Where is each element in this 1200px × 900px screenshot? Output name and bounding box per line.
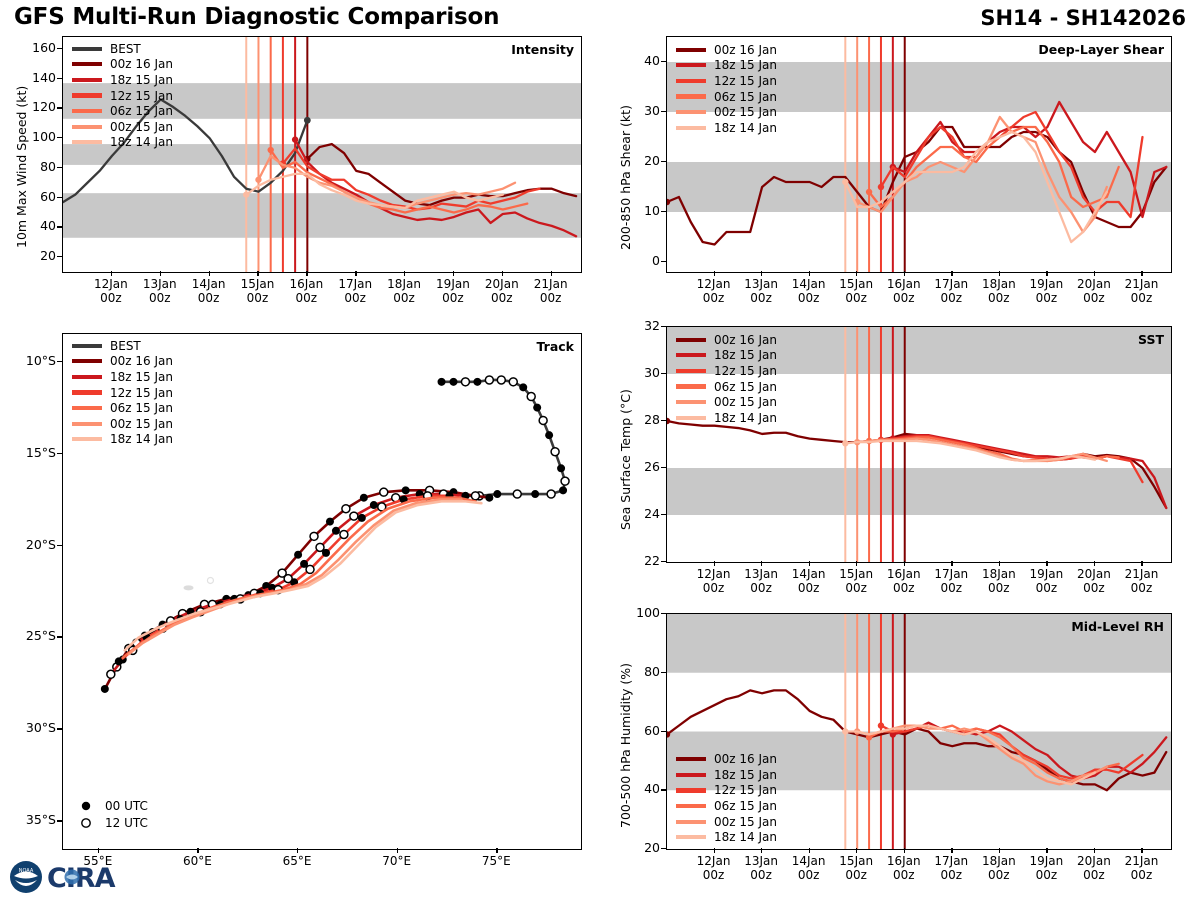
shear-panel-title: Deep-Layer Shear	[1038, 42, 1164, 57]
y-tick-mark	[57, 226, 62, 227]
legend-color-swatch	[72, 406, 102, 410]
legend-label: BEST	[110, 340, 141, 352]
x-tick-mark	[1046, 271, 1047, 276]
y-tick-label: 26	[628, 459, 660, 474]
series-start-marker	[842, 179, 848, 185]
legend-label: 18z 14 Jan	[714, 412, 777, 424]
track-y-tick-mark	[57, 728, 62, 729]
track-y-tick-label: 15°S	[14, 445, 56, 460]
track-legend-item: 06z 15 Jan	[72, 400, 173, 416]
x-tick-mark	[951, 271, 952, 276]
y-tick-mark	[57, 256, 62, 257]
intensity-panel-title: Intensity	[511, 42, 574, 57]
legend-label: 18z 15 Jan	[714, 59, 777, 71]
track-marker-00utc	[332, 527, 340, 535]
x-tick-mark	[951, 848, 952, 853]
legend-label: 00z 15 Jan	[714, 816, 777, 828]
x-tick-mark	[306, 271, 307, 276]
track-y-tick-label: 25°S	[14, 628, 56, 643]
legend-color-swatch	[676, 126, 706, 130]
x-tick-hour: 00z	[1083, 581, 1105, 595]
x-tick-date: 15Jan	[241, 277, 275, 291]
intensity-legend-item: 06z 15 Jan	[72, 103, 173, 119]
x-tick-mark	[714, 561, 715, 566]
track-x-tick-label: 60°E	[165, 854, 229, 868]
track-marker-00utc	[360, 494, 368, 502]
best-end-marker	[304, 117, 311, 124]
x-tick-date: 19Jan	[1029, 567, 1063, 581]
series-start-marker	[878, 184, 884, 190]
x-tick-hour: 00z	[703, 581, 725, 595]
legend-color-swatch	[72, 78, 102, 82]
x-tick-mark	[904, 271, 905, 276]
track-marker-00utc	[438, 378, 446, 386]
x-tick-mark	[257, 271, 258, 276]
x-tick-hour: 00z	[893, 581, 915, 595]
y-tick-label: 100	[628, 605, 660, 620]
track-legend-item: 00z 15 Jan	[72, 416, 173, 432]
y-tick-mark	[661, 731, 666, 732]
legend-label: 18z 14 Jan	[714, 831, 777, 843]
intensity-legend-item: 00z 16 Jan	[72, 57, 173, 73]
legend-color-swatch	[72, 62, 102, 66]
track-y-tick-mark	[57, 820, 62, 821]
y-tick-label: 40	[628, 781, 660, 796]
y-tick-label: 32	[628, 318, 660, 333]
sst-panel: SST 00z 16 Jan18z 15 Jan12z 15 Jan06z 15…	[666, 326, 1172, 563]
x-tick-mark	[856, 271, 857, 276]
legend-color-swatch	[676, 804, 706, 808]
track-marker-12utc	[485, 376, 493, 384]
y-tick-label: 20	[628, 840, 660, 855]
rh-legend-item: 18z 15 Jan	[676, 767, 777, 783]
track-marker-legend-item: 12 UTC	[75, 814, 148, 831]
page-title: GFS Multi-Run Diagnostic Comparison	[14, 4, 499, 30]
track-legend-item: 18z 15 Jan	[72, 369, 173, 385]
x-tick-date: 12Jan	[94, 277, 128, 291]
x-tick-hour: 00z	[988, 868, 1010, 882]
shear-legend-item: 00z 15 Jan	[676, 104, 777, 120]
track-marker-12utc	[306, 565, 314, 573]
track-marker-legend-item: 00 UTC	[75, 797, 148, 814]
x-tick-date: 16Jan	[887, 567, 921, 581]
legend-label: 18z 15 Jan	[714, 769, 777, 781]
track-marker-12utc	[380, 488, 388, 496]
x-tick-mark	[111, 271, 112, 276]
track-marker-12utc	[551, 448, 559, 456]
track-marker-00utc	[402, 486, 410, 494]
y-tick-label: 140	[24, 70, 56, 85]
track-marker-00utc	[449, 378, 457, 386]
track-x-tick-mark	[197, 848, 198, 853]
y-tick-label: 24	[628, 506, 660, 521]
legend-label: 12z 15 Jan	[714, 365, 777, 377]
rh-legend: 00z 16 Jan18z 15 Jan12z 15 Jan06z 15 Jan…	[676, 751, 777, 845]
y-tick-mark	[57, 167, 62, 168]
x-tick-hour: 00z	[100, 291, 122, 305]
legend-color-swatch	[72, 437, 102, 441]
y-tick-mark	[661, 373, 666, 374]
x-tick-hour: 00z	[1131, 291, 1153, 305]
legend-label: 00z 15 Jan	[714, 106, 777, 118]
x-tick-date: 17Jan	[338, 277, 372, 291]
track-marker-00utc	[557, 464, 565, 472]
track-x-tick-label: 70°E	[365, 854, 429, 868]
x-tick-mark	[1141, 271, 1142, 276]
x-tick-date: 13Jan	[744, 567, 778, 581]
x-tick-date: 17Jan	[934, 277, 968, 291]
x-tick-mark	[1046, 848, 1047, 853]
x-tick-hour: 00z	[1083, 291, 1105, 305]
x-tick-mark	[355, 271, 356, 276]
x-tick-hour: 00z	[893, 291, 915, 305]
x-tick-mark	[856, 848, 857, 853]
track-marker-00utc	[559, 486, 567, 494]
rh-legend-item: 12z 15 Jan	[676, 783, 777, 799]
x-tick-mark	[999, 271, 1000, 276]
x-tick-mark	[160, 271, 161, 276]
track-x-tick-mark	[496, 848, 497, 853]
track-marker-12utc	[539, 416, 547, 424]
legend-color-swatch	[676, 63, 706, 67]
y-tick-label: 30	[628, 365, 660, 380]
x-tick-date: 18Jan	[387, 277, 421, 291]
x-tick-mark	[1094, 271, 1095, 276]
track-legend-item: 00z 16 Jan	[72, 354, 173, 370]
legend-color-swatch	[72, 125, 102, 129]
track-x-tick-mark	[297, 848, 298, 853]
x-tick-date: 15Jan	[839, 567, 873, 581]
shear-y-axis-label: 200-850 hPa Shear (kt)	[618, 105, 633, 250]
legend-color-swatch	[72, 375, 102, 379]
legend-label: 00z 16 Jan	[714, 44, 777, 56]
x-tick-date: 14Jan	[792, 854, 826, 868]
sst-legend-item: 00z 16 Jan	[676, 332, 777, 348]
legend-color-swatch	[676, 773, 706, 777]
x-tick-mark	[1094, 561, 1095, 566]
series-start-marker	[666, 418, 670, 424]
shear-panel: Deep-Layer Shear 00z 16 Jan18z 15 Jan12z…	[666, 36, 1172, 273]
y-tick-mark	[57, 107, 62, 108]
storm-id-label: SH14 - SH142026	[980, 6, 1186, 30]
track-marker-12utc	[310, 532, 318, 540]
track-marker-00utc	[358, 514, 366, 522]
track-x-tick-label: 65°E	[265, 854, 329, 868]
y-tick-label: 10	[628, 203, 660, 218]
y-tick-mark	[661, 789, 666, 790]
series-start-marker	[878, 722, 884, 728]
x-tick-mark	[761, 561, 762, 566]
y-tick-label: 80	[24, 159, 56, 174]
legend-label: 18z 14 Jan	[110, 433, 173, 445]
cira-wordmark-icon: CIRA	[47, 863, 116, 894]
x-tick-date: 17Jan	[934, 854, 968, 868]
intensity-legend-item: 12z 15 Jan	[72, 88, 173, 104]
track-y-tick-label: 10°S	[14, 353, 56, 368]
track-marker-12utc	[497, 376, 505, 384]
track-marker-12utc	[513, 490, 521, 498]
track-marker-12utc	[461, 378, 469, 386]
x-tick-mark	[404, 271, 405, 276]
y-tick-mark	[661, 211, 666, 212]
x-tick-mark	[1141, 848, 1142, 853]
x-tick-date: 14Jan	[792, 277, 826, 291]
track-marker-00utc	[533, 404, 541, 412]
x-tick-hour: 00z	[893, 868, 915, 882]
x-tick-date: 16Jan	[289, 277, 323, 291]
x-tick-hour: 00z	[798, 868, 820, 882]
legend-label: 06z 15 Jan	[714, 381, 777, 393]
y-tick-mark	[57, 48, 62, 49]
legend-label: 00z 16 Jan	[110, 355, 173, 367]
y-tick-mark	[661, 326, 666, 327]
track-panel: Track BEST00z 16 Jan18z 15 Jan12z 15 Jan…	[62, 333, 582, 850]
shear-legend-item: 12z 15 Jan	[676, 73, 777, 89]
sst-legend-item: 06z 15 Jan	[676, 379, 777, 395]
x-tick-label: 21Jan00z	[1109, 854, 1173, 882]
x-tick-label: 21Jan00z	[519, 277, 583, 305]
legend-label: 00z 16 Jan	[714, 334, 777, 346]
intensity-legend-item: BEST	[72, 41, 173, 57]
legend-color-swatch	[676, 384, 706, 388]
x-tick-date: 19Jan	[1029, 277, 1063, 291]
y-tick-mark	[661, 848, 666, 849]
x-tick-mark	[761, 271, 762, 276]
y-tick-label: 20	[628, 153, 660, 168]
track-marker-00utc	[101, 685, 109, 693]
track-legend-item: BEST	[72, 338, 173, 354]
track-marker-00utc	[519, 383, 527, 391]
track-y-tick-mark	[57, 453, 62, 454]
intensity-legend-item: 18z 15 Jan	[72, 72, 173, 88]
track-marker-12utc	[316, 543, 324, 551]
y-tick-mark	[661, 111, 666, 112]
x-tick-hour: 00z	[344, 291, 366, 305]
track-marker-00utc	[115, 657, 123, 665]
sst-legend-item: 00z 15 Jan	[676, 394, 777, 410]
series-start-marker	[243, 191, 249, 197]
x-tick-hour: 00z	[1131, 868, 1153, 882]
x-tick-mark	[856, 561, 857, 566]
legend-label: 00z 16 Jan	[110, 58, 173, 70]
x-tick-mark	[809, 848, 810, 853]
x-tick-mark	[551, 271, 552, 276]
x-tick-hour: 00z	[798, 581, 820, 595]
y-tick-label: 40	[24, 218, 56, 233]
legend-label: 00z 15 Jan	[714, 396, 777, 408]
series-start-marker	[866, 189, 872, 195]
legend-color-swatch	[72, 93, 102, 97]
track-y-tick-mark	[57, 361, 62, 362]
x-tick-date: 21Jan	[1125, 567, 1159, 581]
x-tick-hour: 00z	[703, 868, 725, 882]
x-tick-date: 14Jan	[192, 277, 226, 291]
y-tick-mark	[661, 514, 666, 515]
intensity-legend-item: 00z 15 Jan	[72, 119, 173, 135]
legend-label: 18z 15 Jan	[110, 74, 173, 86]
sst-legend: 00z 16 Jan18z 15 Jan12z 15 Jan06z 15 Jan…	[676, 332, 777, 426]
coastline-feature	[184, 585, 194, 590]
series-start-marker	[842, 440, 848, 446]
intensity-legend-item: 18z 14 Jan	[72, 135, 173, 151]
x-tick-date: 17Jan	[934, 567, 968, 581]
x-tick-date: 12Jan	[697, 277, 731, 291]
x-tick-date: 21Jan	[534, 277, 568, 291]
x-tick-mark	[453, 271, 454, 276]
shear-legend-item: 18z 14 Jan	[676, 120, 777, 136]
legend-label: 18z 15 Jan	[714, 349, 777, 361]
x-tick-hour: 00z	[1083, 868, 1105, 882]
track-y-tick-mark	[57, 636, 62, 637]
track-x-tick-mark	[98, 848, 99, 853]
x-tick-hour: 00z	[750, 291, 772, 305]
y-tick-label: 20	[24, 248, 56, 263]
legend-label: 12z 15 Jan	[110, 387, 173, 399]
svg-text:NOAA: NOAA	[19, 868, 34, 874]
x-tick-mark	[904, 848, 905, 853]
x-tick-hour: 00z	[940, 291, 962, 305]
legend-label: 06z 15 Jan	[714, 91, 777, 103]
sst-legend-item: 18z 15 Jan	[676, 348, 777, 364]
x-tick-date: 18Jan	[982, 854, 1016, 868]
x-tick-label: 21Jan00z	[1109, 567, 1173, 595]
legend-color-swatch	[676, 48, 706, 52]
y-tick-mark	[661, 61, 666, 62]
legend-label: 00z 15 Jan	[110, 121, 173, 133]
legend-label: 06z 15 Jan	[714, 800, 777, 812]
track-marker-12utc	[340, 530, 348, 538]
x-tick-hour: 00z	[798, 291, 820, 305]
open-circle-icon	[75, 816, 97, 830]
x-tick-hour: 00z	[442, 291, 464, 305]
track-marker-00utc	[545, 431, 553, 439]
y-tick-mark	[57, 78, 62, 79]
x-tick-date: 19Jan	[1029, 854, 1063, 868]
x-tick-hour: 00z	[1036, 291, 1058, 305]
y-tick-mark	[661, 161, 666, 162]
track-y-tick-mark	[57, 545, 62, 546]
legend-color-swatch	[676, 79, 706, 83]
x-tick-hour: 00z	[198, 291, 220, 305]
legend-label: 18z 15 Jan	[110, 371, 173, 383]
x-tick-hour: 00z	[845, 581, 867, 595]
x-tick-label: 21Jan00z	[1109, 277, 1173, 305]
x-tick-date: 13Jan	[744, 854, 778, 868]
x-tick-date: 16Jan	[887, 854, 921, 868]
legend-color-swatch	[676, 94, 706, 98]
rh-legend-item: 18z 14 Jan	[676, 829, 777, 845]
legend-label: 12z 15 Jan	[714, 784, 777, 796]
track-marker-00utc	[294, 551, 302, 559]
x-tick-mark	[809, 271, 810, 276]
legend-label: BEST	[110, 43, 141, 55]
x-tick-hour: 00z	[491, 291, 513, 305]
x-tick-date: 19Jan	[436, 277, 470, 291]
x-tick-hour: 00z	[1131, 581, 1153, 595]
x-tick-mark	[1141, 561, 1142, 566]
x-tick-date: 13Jan	[744, 277, 778, 291]
x-tick-hour: 00z	[940, 868, 962, 882]
x-tick-hour: 00z	[703, 291, 725, 305]
track-legend-item: 18z 14 Jan	[72, 432, 173, 448]
shaded-band	[667, 162, 1171, 212]
x-tick-hour: 00z	[296, 291, 318, 305]
noaa-cira-logo: NOAA CIRA	[6, 856, 146, 898]
track-marker-12utc	[350, 512, 358, 520]
y-tick-mark	[661, 261, 666, 262]
track-marker-12utc	[509, 378, 517, 386]
y-tick-mark	[57, 137, 62, 138]
track-marker-00utc	[531, 490, 539, 498]
track-marker-12utc	[547, 490, 555, 498]
x-tick-mark	[809, 561, 810, 566]
legend-color-swatch	[72, 140, 102, 144]
legend-label: 18z 14 Jan	[714, 122, 777, 134]
x-tick-hour: 00z	[845, 868, 867, 882]
legend-color-swatch	[676, 353, 706, 357]
track-legend-item: 12z 15 Jan	[72, 385, 173, 401]
track-x-tick-mark	[397, 848, 398, 853]
series-start-marker	[267, 147, 273, 153]
y-tick-mark	[661, 561, 666, 562]
x-tick-date: 20Jan	[1077, 277, 1111, 291]
x-tick-mark	[761, 848, 762, 853]
legend-label: 06z 15 Jan	[110, 402, 173, 414]
y-tick-label: 60	[628, 723, 660, 738]
y-tick-label: 120	[24, 99, 56, 114]
y-tick-label: 40	[628, 53, 660, 68]
sst-legend-item: 12z 15 Jan	[676, 363, 777, 379]
track-marker-00utc	[485, 494, 493, 502]
x-tick-date: 20Jan	[1077, 567, 1111, 581]
x-tick-hour: 00z	[1036, 581, 1058, 595]
x-tick-date: 12Jan	[697, 567, 731, 581]
rh-panel: Mid-Level RH 00z 16 Jan18z 15 Jan12z 15 …	[666, 613, 1172, 850]
legend-color-swatch	[676, 835, 706, 839]
y-tick-label: 30	[628, 103, 660, 118]
x-tick-mark	[714, 848, 715, 853]
legend-color-swatch	[72, 344, 102, 348]
noaa-emblem-icon: NOAA	[10, 861, 42, 893]
x-tick-mark	[502, 271, 503, 276]
track-line	[129, 500, 462, 655]
track-y-tick-label: 35°S	[14, 812, 56, 827]
track-marker-00utc	[322, 549, 330, 557]
x-tick-hour: 00z	[393, 291, 415, 305]
x-tick-date: 16Jan	[887, 277, 921, 291]
x-tick-date: 18Jan	[982, 567, 1016, 581]
x-tick-hour: 00z	[845, 291, 867, 305]
x-tick-date: 21Jan	[1125, 277, 1159, 291]
legend-color-swatch	[676, 400, 706, 404]
y-tick-mark	[661, 672, 666, 673]
legend-color-swatch	[72, 47, 102, 51]
rh-legend-item: 00z 15 Jan	[676, 814, 777, 830]
legend-label: 18z 14 Jan	[110, 136, 173, 148]
track-x-tick-label: 75°E	[464, 854, 528, 868]
x-tick-mark	[999, 848, 1000, 853]
shear-legend-item: 00z 16 Jan	[676, 42, 777, 58]
x-tick-mark	[999, 561, 1000, 566]
track-marker-legend: 00 UTC12 UTC	[75, 797, 148, 831]
y-tick-label: 60	[24, 189, 56, 204]
legend-color-swatch	[676, 820, 706, 824]
x-tick-hour: 00z	[940, 581, 962, 595]
legend-color-swatch	[676, 757, 706, 761]
x-tick-date: 15Jan	[839, 277, 873, 291]
y-tick-label: 80	[628, 664, 660, 679]
track-marker-legend-label: 12 UTC	[105, 816, 148, 830]
